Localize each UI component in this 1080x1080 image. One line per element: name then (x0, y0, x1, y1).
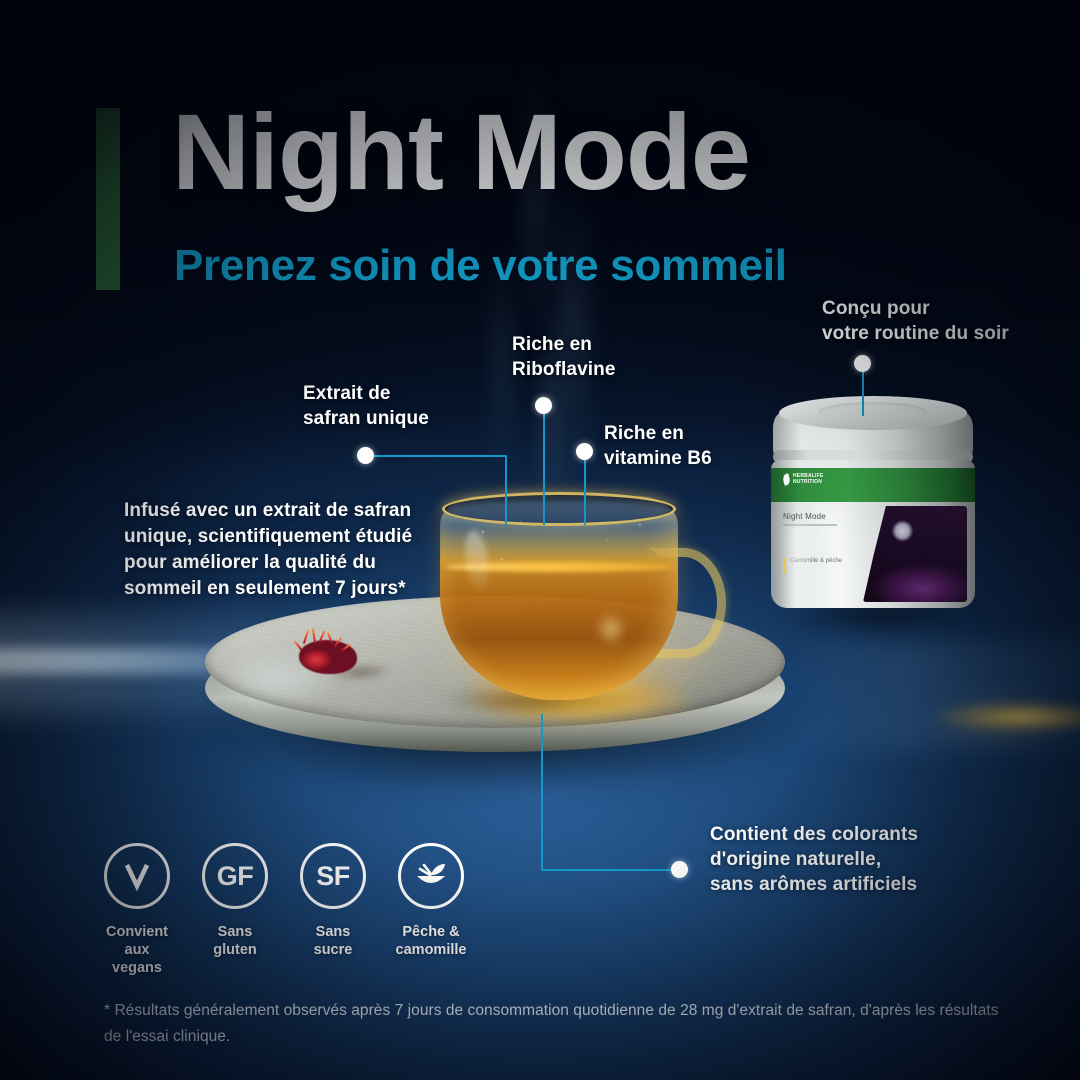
callout-dot-natural-colours[interactable] (671, 861, 688, 878)
saffron-thread (294, 641, 302, 651)
jar-gloss (789, 524, 815, 608)
tea-cup (440, 496, 678, 724)
callout-natural-colours: Contient des colorants d'origine naturel… (710, 822, 918, 897)
page-title: Night Mode (172, 96, 750, 208)
product-description: Infusé avec un extrait de safran unique,… (124, 498, 464, 602)
badge-label-peach-camomile: Pêche & camomille (396, 923, 467, 959)
leader-line-saffron-v (505, 455, 507, 525)
brand-line-2: NUTRITION (793, 480, 823, 486)
jar-night-artwork (863, 506, 967, 602)
leader-line-colours-v (541, 714, 543, 870)
right-gold-reflection (930, 700, 1080, 734)
vegan-v-icon (104, 843, 170, 909)
badge-mark-sf: SF (316, 861, 350, 892)
cup-body (440, 496, 678, 700)
certification-badges: Convient aux vegans GF Sans gluten SF Sa… (104, 843, 464, 977)
night-mode-product-poster: HERBALIFE NUTRITION Night Mode Camomille… (0, 0, 1080, 1080)
cup-highlight-secondary (590, 606, 632, 652)
badge-label-vegan: Convient aux vegans (104, 923, 170, 977)
callout-evening-routine: Conçu pour votre routine du soir (822, 296, 1009, 346)
badge-label-gluten-free: Sans gluten (213, 923, 257, 959)
jar-body: HERBALIFE NUTRITION Night Mode Camomille… (771, 460, 975, 608)
leader-line-colours-h (541, 869, 680, 871)
callout-dot-riboflavin[interactable] (535, 397, 552, 414)
saffron-threads (283, 628, 379, 684)
legal-footnote: * Résultats généralement observés après … (104, 998, 1004, 1050)
leaf-icon (781, 473, 791, 486)
badge-mark-gf: GF (217, 861, 254, 892)
leader-line-riboflavin (543, 405, 545, 525)
green-accent-bar (96, 108, 120, 290)
badge-sugar-free: SF Sans sucre (300, 843, 366, 977)
product-jar[interactable]: HERBALIFE NUTRITION Night Mode Camomille… (767, 396, 979, 624)
badge-peach-camomile: Pêche & camomille (398, 843, 464, 977)
callout-vitamin-b6: Riche en vitamine B6 (604, 421, 712, 471)
cup-rim (442, 492, 676, 526)
leader-line-saffron-h (367, 455, 506, 457)
callout-dot-vitaminb6[interactable] (576, 443, 593, 460)
jar-product-name: Night Mode (783, 512, 826, 521)
herbalife-logo: HERBALIFE NUTRITION (783, 474, 823, 485)
page-subtitle: Prenez soin de votre sommeil (174, 240, 787, 292)
jar-lid-inner-disc (819, 402, 927, 422)
badge-label-sugar-free: Sans sucre (314, 923, 353, 959)
sugar-free-icon: SF (300, 843, 366, 909)
herbal-bowl-icon (398, 843, 464, 909)
gluten-free-icon: GF (202, 843, 268, 909)
leader-line-vitaminb6 (584, 451, 586, 525)
badge-gluten-free: GF Sans gluten (202, 843, 268, 977)
jar-flavor-accent (783, 558, 786, 574)
callout-riboflavin: Riche en Riboflavine (512, 332, 616, 382)
callout-dot-evening-routine[interactable] (854, 355, 871, 372)
callout-saffron-extract: Extrait de safran unique (303, 381, 429, 431)
callout-dot-saffron[interactable] (357, 447, 374, 464)
saffron-thread (303, 630, 309, 644)
badge-vegan: Convient aux vegans (104, 843, 170, 977)
